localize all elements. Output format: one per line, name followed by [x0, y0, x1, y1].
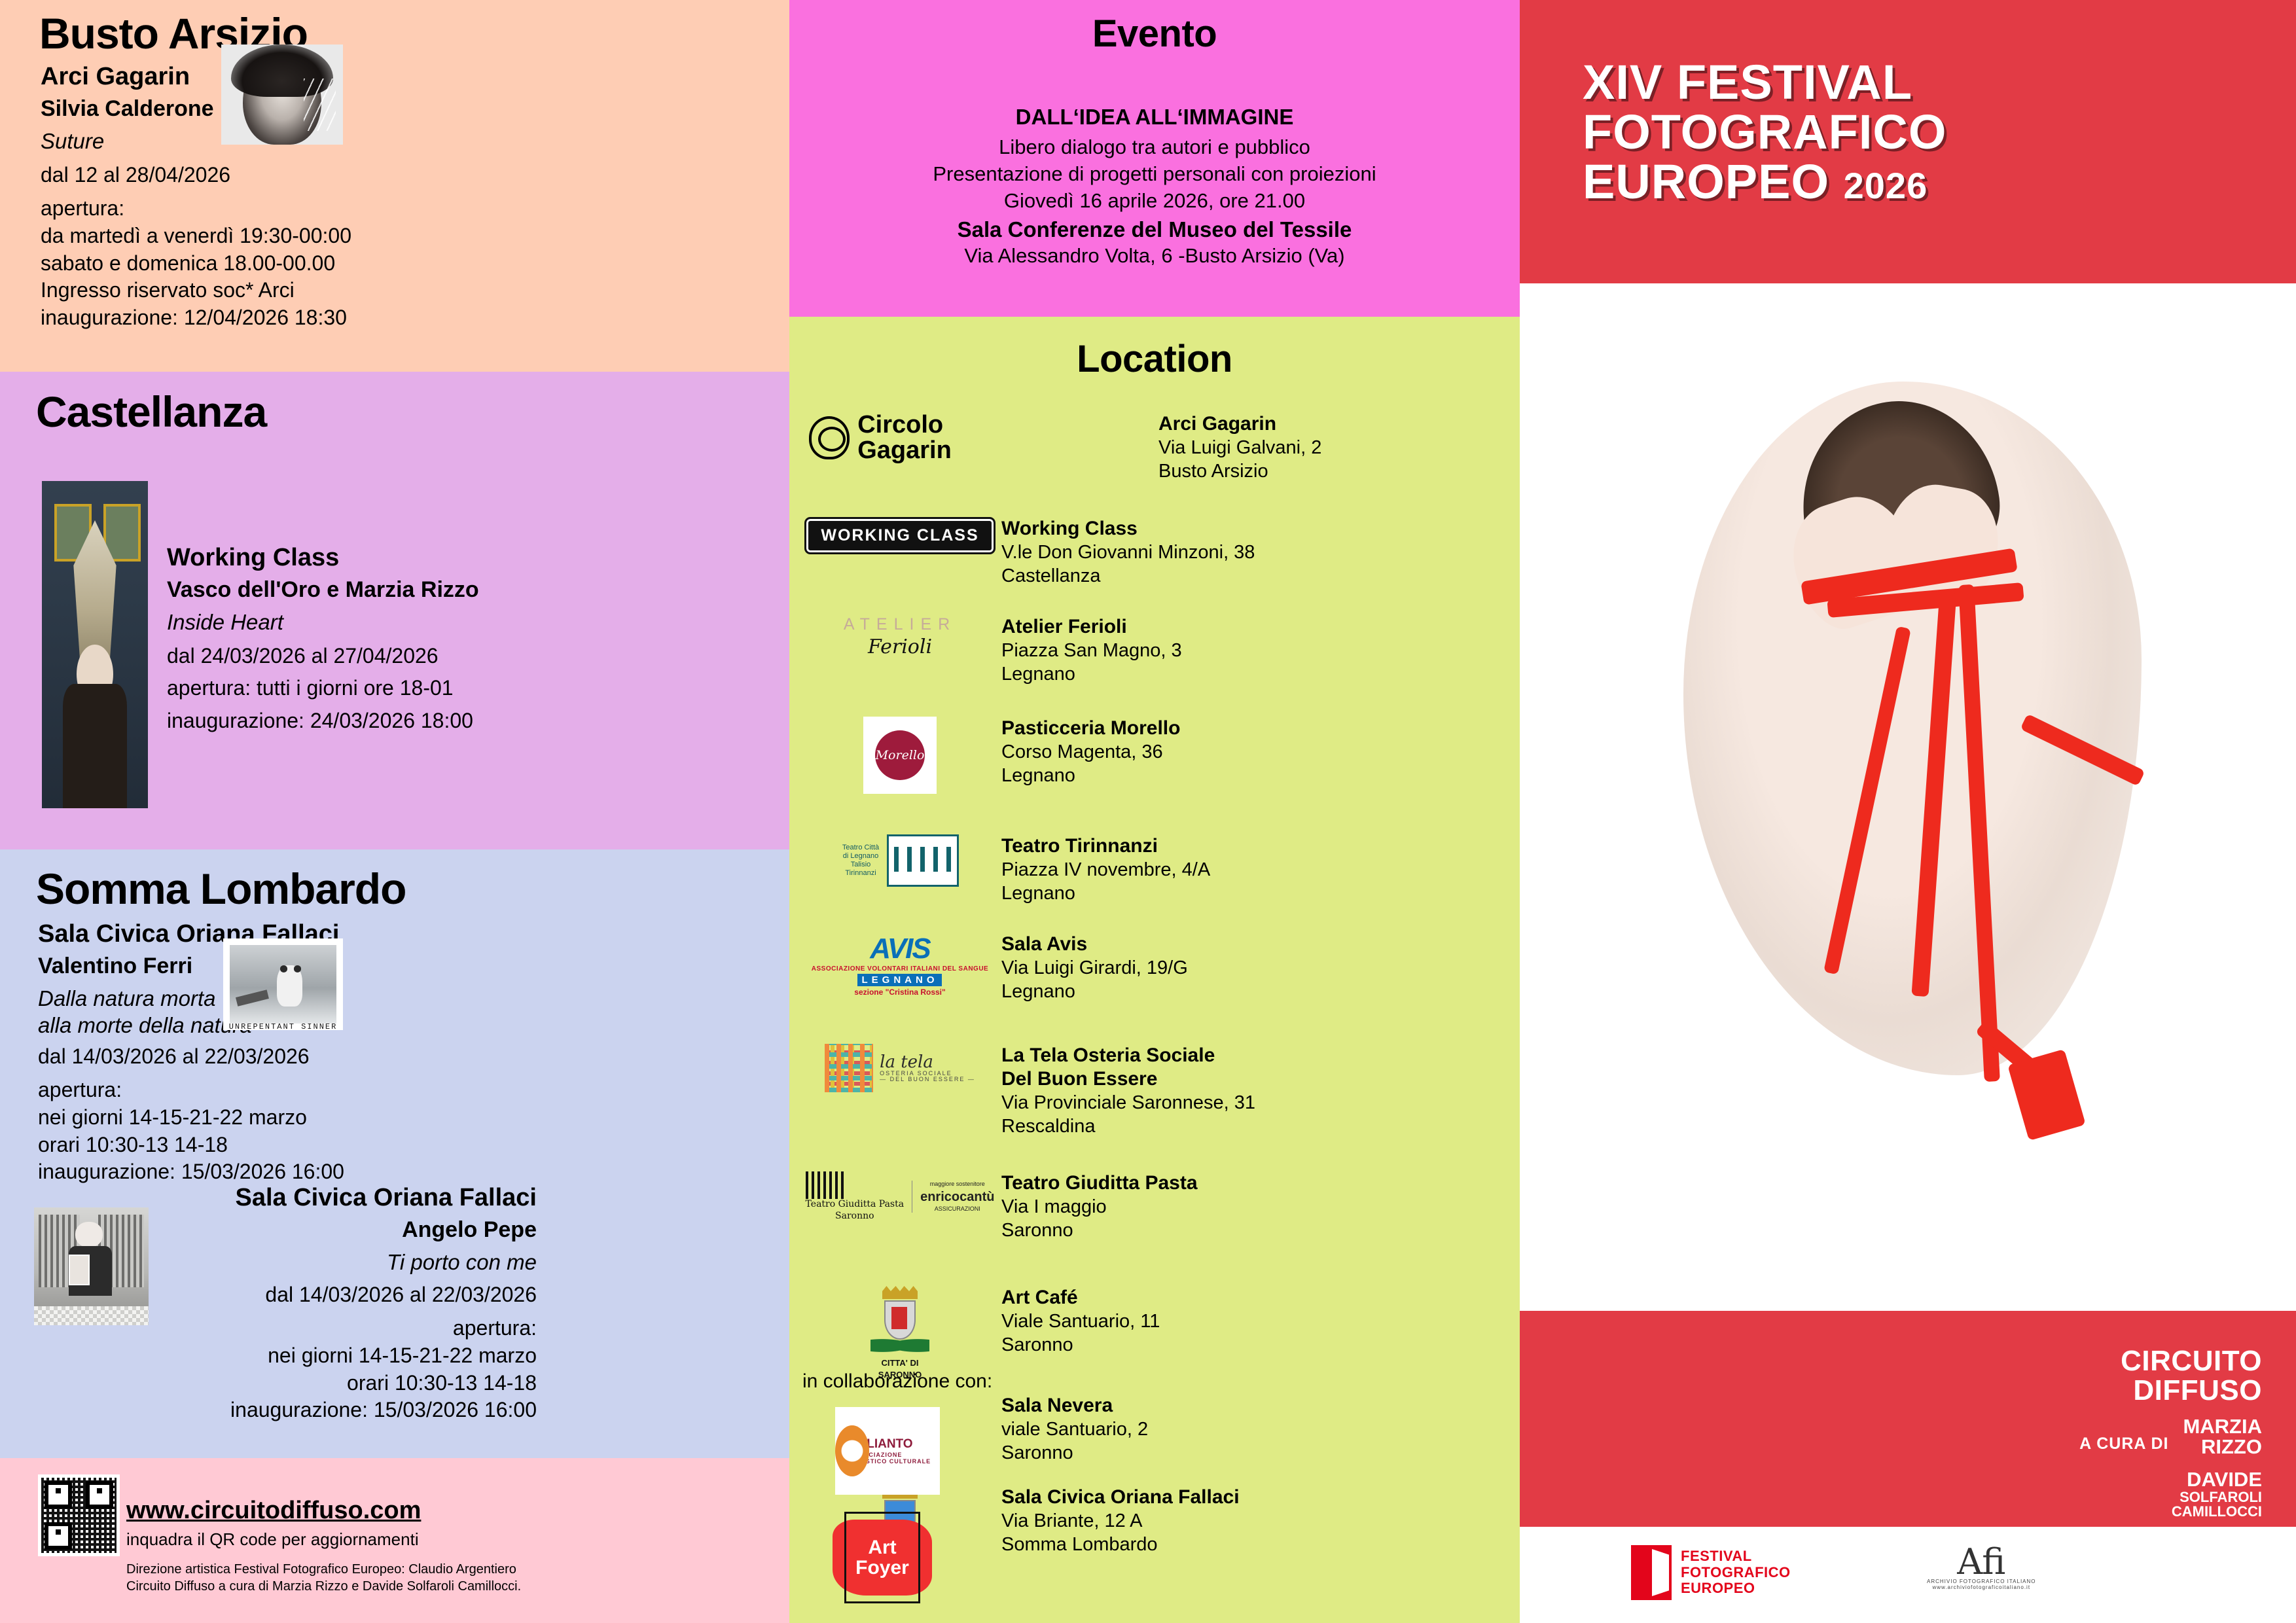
note-busto: Ingresso riservato soc* Arci [41, 277, 446, 304]
saronno-crest-text-1: CITTA' DI [869, 1358, 931, 1368]
citta-di-saronno-crest: CITTA' DI SARONNO [869, 1286, 931, 1380]
location-street-10: Via Briante, 12 A [1001, 1509, 1368, 1533]
pasticceria-morello-logo: Morello [798, 717, 1001, 794]
location-name-4: Teatro Tirinnanzi [1001, 834, 1368, 858]
photo-unrepentant-sinner: UNREPENTANT SINNER [223, 938, 343, 1030]
festival-title-line1: XIV FESTIVAL [1583, 58, 1946, 107]
la-tela-logo: la tela OSTERIA SOCIALE — DEL BUON ESSER… [798, 1044, 1001, 1092]
castellanza-details: Working Class Vasco dell'Oro e Marzia Ri… [167, 543, 533, 735]
credits-block: Direzione artistica Festival Fotografico… [126, 1561, 521, 1596]
location-row-0[interactable]: Circolo Gagarin Arci Gagarin Via Luigi G… [798, 412, 1525, 484]
avis-logo-city: LEGNANO [857, 974, 942, 986]
location-city-5: Legnano [1001, 980, 1368, 1003]
avis-legnano-logo: AVIS ASSOCIAZIONE VOLONTARI ITALIANI DEL… [798, 933, 1001, 997]
tower-icon [891, 1307, 907, 1329]
afi-logo: Afi ARCHIVIO FOTOGRAFICO ITALIANO www.ar… [1927, 1546, 2036, 1590]
crown-icon [882, 1286, 918, 1299]
venue-name-somma2: Sala Civica Oriana Fallaci [170, 1183, 537, 1213]
avis-logo-text: AVIS [812, 933, 988, 965]
location-city-4: Legnano [1001, 882, 1368, 905]
photo-angelo-pepe [34, 1207, 149, 1325]
location-name-9: Sala Nevera [1001, 1394, 1368, 1418]
left-column: Busto Arsizio Arci Gagarin Silvia Calder… [0, 0, 789, 1623]
location-street-7: Via I maggio [1001, 1195, 1368, 1219]
helianto-logo: HELIANTO ASSOCIAZIONE ARTISTICO CULTURAL… [835, 1407, 940, 1495]
location-name-5: Sala Avis [1001, 933, 1368, 956]
curator2-first: DAVIDE [2079, 1469, 2262, 1490]
artfoyer-logo-text-1: Art [855, 1537, 909, 1558]
working-class-logo-text: WORKING CLASS [804, 517, 995, 554]
inaugurazione-somma1: inaugurazione: 15/03/2026 16:00 [38, 1158, 444, 1186]
dates-castellanza: dal 24/03/2026 al 27/04/2026 [167, 643, 533, 670]
location-street-9: viale Santuario, 2 [1001, 1418, 1368, 1441]
somma2-details: Sala Civica Oriana Fallaci Angelo Pepe T… [170, 1183, 537, 1424]
city-title-castellanza: Castellanza [36, 390, 266, 433]
avis-logo-section: sezione "Cristina Rossi" [812, 988, 988, 997]
location-row-1[interactable]: WORKING CLASS Working Class V.le Don Gio… [798, 517, 1368, 588]
qr-code[interactable] [38, 1474, 120, 1556]
location-city-1: Castellanza [1001, 564, 1368, 588]
festival-year: 2026 [1844, 165, 1928, 206]
hours-castellanza: apertura: tutti i giorni ore 18-01 [167, 675, 533, 702]
artfoyer-logo-text-2: Foyer [855, 1558, 909, 1578]
cantu-sub: ASSICURAZIONI [920, 1205, 994, 1213]
evento-line1: Libero dialogo tra autori e pubblico [816, 134, 1494, 160]
afi-mark-text: Afi [1927, 1546, 2036, 1578]
art-foyer-logo: Art Foyer [830, 1505, 935, 1610]
photo-caption-text: UNREPENTANT SINNER [223, 1022, 343, 1031]
days-somma2: nei giorni 14-15-21-22 marzo [170, 1342, 537, 1370]
location-name-2: Atelier Ferioli [1001, 615, 1368, 639]
afi-url: www.archiviofotograficoitaliano.it [1927, 1584, 2036, 1590]
photo-inner [230, 945, 336, 1024]
location-name-1: Working Class [1001, 517, 1368, 541]
location-city-7: Saronno [1001, 1219, 1368, 1242]
circolo-gagarin-logo: Circolo Gagarin [798, 412, 962, 463]
curator2-last2: CAMILLOCCI [2079, 1505, 2262, 1519]
hours2-busto: sabato e domenica 18.00-00.00 [41, 250, 446, 277]
location-street-6: Via Provinciale Saronnese, 31 [1001, 1091, 1368, 1115]
dates-somma1: dal 14/03/2026 al 22/03/2026 [38, 1043, 444, 1071]
location-heading: Location [789, 337, 1520, 381]
photo-inside-heart [42, 481, 148, 808]
evento-details: DALL‘IDEA ALL‘IMMAGINE Libero dialogo tr… [816, 105, 1494, 269]
festival-title-line2: FOTOGRAFICO [1583, 107, 1946, 157]
location-name-7: Teatro Giuditta Pasta [1001, 1171, 1368, 1195]
cantu-logo-text: enricocantù [920, 1190, 994, 1204]
location-city-6: Rescaldina [1001, 1115, 1368, 1138]
dates-somma2: dal 14/03/2026 al 22/03/2026 [170, 1281, 537, 1309]
qr-eye-bl [45, 1522, 72, 1550]
dates-busto: dal 12 al 28/04/2026 [41, 162, 446, 189]
location-row-2[interactable]: ATELIER Ferioli Atelier Ferioli Piazza S… [798, 615, 1368, 687]
teatro-giuditta-pasta-logo: Teatro Giuditta Pasta Saronno maggiore s… [798, 1171, 1001, 1222]
festival-title-line3: EUROPEO [1583, 154, 1829, 209]
location-name-6: La Tela Osteria Sociale [1001, 1044, 1368, 1067]
work-title-castellanza: Inside Heart [167, 609, 533, 636]
avis-logo-subtitle: ASSOCIAZIONE VOLONTARI ITALIANI DEL SANG… [812, 965, 988, 972]
author-castellanza: Vasco dell'Oro e Marzia Rizzo [167, 577, 533, 603]
city-title-somma: Somma Lombardo [36, 867, 406, 910]
ffe-line2: FOTOGRAFICO [1681, 1565, 1791, 1581]
location-street-1: V.le Don Giovanni Minzoni, 38 [1001, 541, 1368, 564]
pillars-icon [806, 1171, 844, 1199]
location-name-0: Arci Gagarin [1158, 412, 1525, 436]
latela-logo-sub2: — DEL BUON ESSERE — [880, 1077, 975, 1082]
cantu-label: maggiore sostenitore [920, 1181, 994, 1188]
location-name-3: Pasticceria Morello [1001, 717, 1368, 740]
gagarin-logo-text-2: Gagarin [857, 438, 952, 463]
inaugurazione-castellanza: inaugurazione: 24/03/2026 18:00 [167, 707, 533, 735]
shield-icon [884, 1300, 916, 1340]
evento-heading: Evento [789, 12, 1520, 56]
hours-somma1: orari 10:30-13 14-18 [38, 1132, 444, 1159]
inaugurazione-busto: inaugurazione: 12/04/2026 18:30 [41, 304, 446, 332]
location-street-5: Via Luigi Girardi, 19/G [1001, 956, 1368, 980]
location-city-2: Legnano [1001, 662, 1368, 686]
location-row-8[interactable]: CITTA' DI SARONNO Art Café Viale Santuar… [798, 1286, 1368, 1380]
atelier-logo-text: ATELIER [844, 615, 956, 634]
apertura-label-somma2: apertura: [170, 1315, 537, 1342]
location-city-10: Somma Lombardo [1001, 1533, 1368, 1556]
qr-eye-tl [45, 1481, 72, 1508]
red-ribbon-8 [2007, 1049, 2086, 1141]
ffe-line3: EUROPEO [1681, 1580, 1791, 1597]
location-city-9: Saronno [1001, 1441, 1368, 1465]
atelier-ferioli-logo: ATELIER Ferioli [798, 615, 1001, 658]
curator1-first: MARZIA [2183, 1416, 2262, 1437]
location-row-5[interactable]: AVIS ASSOCIAZIONE VOLONTARI ITALIANI DEL… [798, 933, 1368, 1004]
festival-fotografico-europeo-logo: FESTIVAL FOTOGRAFICO EUROPEO [1631, 1545, 1791, 1600]
gpasta-logo-text-1: Teatro Giuditta Pasta [806, 1199, 905, 1211]
location-street-3: Corso Magenta, 36 [1001, 740, 1368, 764]
curator1-last: RIZZO [2183, 1436, 2262, 1457]
author-somma2: Angelo Pepe [170, 1217, 537, 1243]
evento-address: Via Alessandro Volta, 6 -Busto Arsizio (… [816, 242, 1494, 269]
website-link[interactable]: www.circuitodiffuso.com [126, 1497, 421, 1525]
credit-line-2: Circuito Diffuso a cura di Marzia Rizzo … [126, 1578, 521, 1595]
handwriting-overlay [304, 79, 335, 131]
venue-name-castellanza: Working Class [167, 543, 533, 573]
evento-line2: Presentazione di progetti personali con … [816, 160, 1494, 187]
collaboration-label: in collaborazione con: [802, 1370, 992, 1393]
gpasta-logo-text-2: Saronno [806, 1211, 905, 1222]
footer-logos-bar: FESTIVAL FOTOGRAFICO EUROPEO Afi ARCHIVI… [1520, 1527, 2296, 1623]
apertura-label-busto: apertura: [41, 195, 446, 223]
a-cura-di-label: A CURA DI [2079, 1435, 2168, 1457]
sun-icon [835, 1425, 869, 1476]
poster-page: Busto Arsizio Arci Gagarin Silvia Calder… [0, 0, 2296, 1623]
evento-venue: Sala Conferenze del Museo del Tessile [816, 217, 1494, 242]
ffe-line1: FESTIVAL [1681, 1548, 1791, 1565]
teatro-tirinnanzi-logo: Teatro Città di Legnano Talisio Tirinnan… [798, 834, 1001, 887]
evento-line3: Giovedì 16 aprile 2026, ore 21.00 [816, 187, 1494, 214]
qr-hint-text: inquadra il QR code per aggiornamenti [126, 1529, 419, 1550]
qr-eye-tr [86, 1481, 113, 1508]
teatro-logo-text-1: Teatro Città di Legnano [841, 844, 880, 861]
ffe-mark-icon [1631, 1545, 1672, 1600]
middle-column: Evento DALL‘IDEA ALL‘IMMAGINE Libero dia… [789, 0, 1520, 1623]
location-row-3[interactable]: Morello Pasticceria Morello Corso Magent… [798, 717, 1368, 794]
hours-somma2: orari 10:30-13 14-18 [170, 1370, 537, 1397]
afi-subtitle: ARCHIVIO FOTOGRAFICO ITALIANO [1927, 1578, 2036, 1584]
working-class-logo: WORKING CLASS [798, 517, 1001, 554]
circuito-line1: CIRCUITO [2079, 1347, 2262, 1376]
circuito-line2: DIFFUSO [2079, 1376, 2262, 1406]
location-street-4: Piazza IV novembre, 4/A [1001, 858, 1368, 882]
photo-silvia-calderone [221, 45, 343, 145]
helmet-icon [809, 416, 850, 459]
latela-logo-text: la tela [880, 1054, 975, 1071]
teatro-logo-text-2: Talisio Tirinnanzi [841, 861, 880, 878]
hero-photo [1520, 283, 2296, 1311]
evento-title: DALL‘IDEA ALL‘IMMAGINE [816, 105, 1494, 130]
theatre-building-icon [887, 834, 959, 887]
location-name-6b: Del Buon Essere [1001, 1067, 1368, 1091]
location-city-3: Legnano [1001, 764, 1368, 787]
work-title-somma2: Ti porto con me [170, 1249, 537, 1276]
location-name-10: Sala Civica Oriana Fallaci [1001, 1486, 1368, 1509]
inaugurazione-somma2: inaugurazione: 15/03/2026 16:00 [170, 1397, 537, 1424]
gagarin-logo-text-1: Circolo [857, 412, 952, 438]
credit-line-1: Direzione artistica Festival Fotografico… [126, 1561, 521, 1578]
curator2-last: SOLFAROLI [2079, 1490, 2262, 1505]
location-row-7[interactable]: Teatro Giuditta Pasta Saronno maggiore s… [798, 1171, 1368, 1243]
morello-logo-text: Morello [875, 730, 925, 780]
apertura-label-somma1: apertura: [38, 1077, 444, 1104]
location-name-8: Art Café [1001, 1286, 1368, 1310]
location-street-8: Viale Santuario, 11 [1001, 1310, 1368, 1333]
hours1-busto: da martedì a venerdì 19:30-00:00 [41, 223, 446, 250]
weave-icon [825, 1044, 873, 1092]
ferioli-signature-text: Ferioli [844, 635, 956, 658]
location-street-2: Piazza San Magno, 3 [1001, 639, 1368, 662]
days-somma1: nei giorni 14-15-21-22 marzo [38, 1104, 444, 1132]
festival-title: XIV FESTIVAL FOTOGRAFICO EUROPEO 2026 [1583, 58, 1946, 207]
circuito-diffuso-block: CIRCUITO DIFFUSO A CURA DI MARZIA RIZZO … [2079, 1347, 2262, 1519]
location-street-0: Via Luigi Galvani, 2 [1158, 436, 1525, 459]
location-city-8: Saronno [1001, 1333, 1368, 1357]
right-column: XIV FESTIVAL FOTOGRAFICO EUROPEO 2026 CI… [1520, 0, 2296, 1623]
location-city-0: Busto Arsizio [1158, 459, 1525, 483]
location-row-6[interactable]: la tela OSTERIA SOCIALE — DEL BUON ESSER… [798, 1044, 1368, 1139]
location-row-4[interactable]: Teatro Città di Legnano Talisio Tirinnan… [798, 834, 1368, 906]
